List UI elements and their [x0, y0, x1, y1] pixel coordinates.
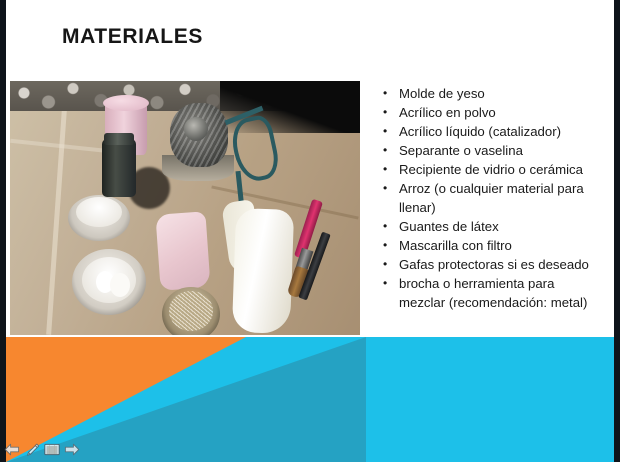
list-item: Separante o vaselina — [381, 142, 599, 161]
materials-photo — [10, 81, 360, 335]
list-item: brocha o herramienta para mezclar (recom… — [381, 275, 599, 312]
photo-latex-glove — [232, 208, 294, 334]
photo-scene — [10, 81, 360, 335]
list-item: Molde de yeso — [381, 85, 599, 104]
slideshow-toolbar — [4, 442, 80, 457]
photo-jar-lid — [103, 95, 149, 111]
list-item: Guantes de látex — [381, 218, 599, 237]
list-item: Acrílico líquido (catalizador) — [381, 123, 599, 142]
photo-rice — [169, 291, 213, 331]
list-item: Arroz (o cualquier material para llenar) — [381, 180, 599, 217]
list-item: Gafas protectoras si es deseado — [381, 256, 599, 275]
materials-list: Molde de yeso Acrílico en polvo Acrílico… — [381, 85, 599, 313]
photo-plaster-mold — [110, 273, 130, 297]
list-item: Mascarilla con filtro — [381, 237, 599, 256]
decorative-band — [6, 337, 614, 462]
list-item: Acrílico en polvo — [381, 104, 599, 123]
photo-white-bowl-interior — [76, 197, 122, 227]
photo-powder-bag — [155, 211, 210, 290]
photo-mask-filter — [184, 117, 208, 141]
photo-liquid-bottle — [102, 139, 136, 197]
list-item: Recipiente de vidrio o cerámica — [381, 161, 599, 180]
photo-bottle-cap — [104, 133, 134, 145]
viewer-right-edge — [614, 0, 620, 462]
slide-canvas[interactable]: MATERIALES — [6, 0, 614, 462]
arrow-right-icon[interactable] — [64, 442, 80, 457]
slides-menu-icon[interactable] — [44, 442, 60, 457]
pen-icon[interactable] — [24, 442, 40, 457]
presentation-viewer: MATERIALES — [0, 0, 620, 462]
arrow-left-icon[interactable] — [4, 442, 20, 457]
page-title: MATERIALES — [62, 26, 203, 47]
